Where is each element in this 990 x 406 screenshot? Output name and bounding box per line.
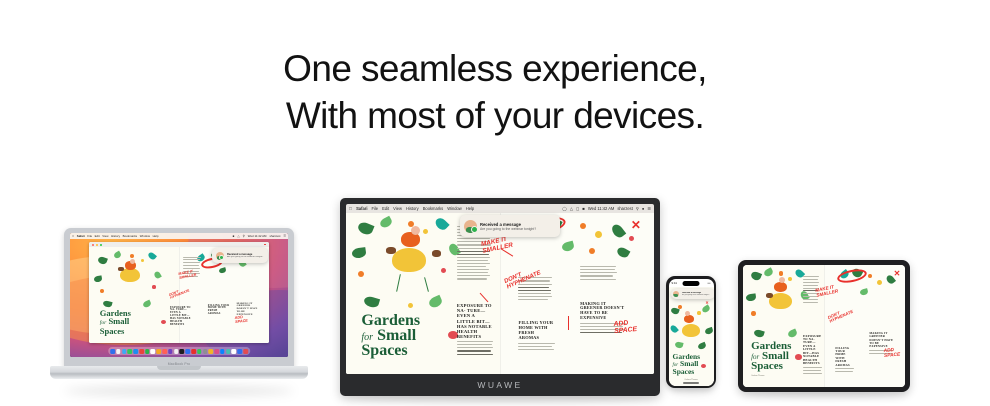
macos-dock[interactable]	[108, 347, 250, 355]
screen-mirror-icon[interactable]: ◯	[562, 206, 567, 211]
tablet-screen[interactable]: Gardens for Small Spaces Graham Thomas	[743, 265, 905, 387]
monitor-screen[interactable]:  Safari File Edit View History Bookmark…	[346, 204, 654, 374]
heading-aromas: FILLING YOUR HOME WITH FRESH AROMAS	[518, 321, 555, 341]
dock-icon-11[interactable]	[168, 349, 173, 354]
window-minimize-icon[interactable]	[96, 244, 98, 246]
illustration-figure-body	[392, 248, 426, 272]
menu-item-bookmarks[interactable]: Bookmarks	[123, 234, 137, 238]
laptop-lid:  Safari File Edit View History Bookmark…	[64, 228, 294, 368]
menu-item-edit[interactable]: Edit	[382, 206, 389, 211]
apple-menu-icon[interactable]: 	[72, 234, 74, 238]
record-icon	[264, 244, 266, 246]
dock-icon-10[interactable]	[162, 349, 167, 354]
headline-line-2: With most of your devices.	[0, 93, 990, 140]
siri-icon[interactable]: ●	[642, 206, 644, 211]
masthead-line3: Spaces	[751, 360, 783, 372]
menu-item-view[interactable]: View	[102, 234, 108, 238]
menu-item-file[interactable]: File	[371, 206, 378, 211]
laptop-menubar[interactable]:  Safari File Edit View History Bookmark…	[70, 233, 288, 239]
dock-icon-22[interactable]	[232, 349, 237, 354]
magazine-byline: Graham Thomas	[751, 375, 764, 377]
dock-icon-23[interactable]	[237, 349, 242, 354]
annotation-add-space: ADD SPACE	[234, 316, 248, 325]
dock-icon-1[interactable]	[110, 349, 115, 354]
annotation-close-x-icon: ✕	[631, 218, 641, 232]
flower-decoration	[795, 354, 802, 360]
wifi-icon[interactable]: △	[570, 206, 573, 211]
notification-body: Are you going to the webinar tonight?	[227, 256, 264, 258]
dock-icon-19[interactable]	[214, 349, 219, 354]
menu-item-safari[interactable]: Safari	[77, 234, 85, 238]
menu-item-edit[interactable]: Edit	[95, 234, 100, 238]
device-laptop[interactable]:  Safari File Edit View History Bookmark…	[50, 228, 308, 390]
menubar-clock[interactable]: Wed 11:42 AM	[248, 234, 267, 238]
dock-icon-3[interactable]	[122, 349, 127, 354]
menubar-user[interactable]: sharzest	[617, 206, 632, 211]
menu-item-help[interactable]: Help	[466, 206, 474, 211]
dock-icon-24[interactable]	[243, 349, 248, 354]
menu-item-view[interactable]: View	[393, 206, 402, 211]
tablet-body: Gardens for Small Spaces Graham Thomas	[738, 260, 910, 392]
magazine-spread-monitor: Gardens for Small Spaces	[346, 213, 654, 374]
heading-exposure: EXPOSURE TO NA- TURE—EVEN A LITTLE BIT—H…	[803, 335, 822, 366]
menubar-status-area[interactable]: ■ △ ⚲ Wed 11:42 AM sharzest ☰	[233, 234, 286, 238]
search-icon[interactable]: ⚲	[243, 234, 245, 238]
dock-icon-4[interactable]	[128, 349, 133, 354]
dock-icon-16[interactable]	[197, 349, 202, 354]
menu-item-window[interactable]: Window	[140, 234, 150, 238]
laptop-trackpad-notch	[157, 366, 201, 370]
home-indicator	[683, 382, 699, 383]
search-icon[interactable]: ⚲	[636, 206, 639, 211]
monitor-body:  Safari File Edit View History Bookmark…	[340, 198, 660, 396]
laptop-browser-window[interactable]: Gardens for Small Spaces	[89, 242, 269, 343]
control-center-icon[interactable]: ☰	[647, 206, 651, 211]
battery-icon[interactable]: ■	[582, 206, 584, 211]
annotation-close-x-icon: ✕	[894, 269, 901, 278]
dock-icon-17[interactable]	[203, 349, 208, 354]
dock-icon-5[interactable]	[133, 349, 138, 354]
monitor-chin: WUAWE	[340, 374, 660, 396]
laptop-base	[50, 366, 308, 379]
magazine-spread-tablet: Gardens for Small Spaces Graham Thomas	[743, 265, 905, 387]
dock-icon-12[interactable]	[174, 349, 179, 354]
laptop-screen[interactable]:  Safari File Edit View History Bookmark…	[70, 233, 288, 357]
menu-item-history[interactable]: History	[111, 234, 120, 238]
phone-status-icons: •••	[708, 281, 711, 285]
dock-icon-9[interactable]	[156, 349, 161, 354]
menu-item-bookmarks[interactable]: Bookmarks	[423, 206, 443, 211]
heading-greener: MAKING IT GREENER DOESN'T HAVE TO BE EXP…	[869, 332, 893, 348]
menubar-user[interactable]: sharzest	[269, 234, 280, 238]
page-stage: One seamless experience, With most of yo…	[0, 0, 990, 406]
phone-screen[interactable]: 9:41 ••• Received a message Are you goin…	[669, 279, 714, 386]
dock-icon-7[interactable]	[145, 349, 150, 354]
dock-icon-18[interactable]	[209, 349, 214, 354]
app-badge-icon	[471, 226, 478, 233]
flower-decoration	[701, 364, 706, 368]
dock-icon-13[interactable]	[180, 349, 185, 354]
menu-item-file[interactable]: File	[87, 234, 92, 238]
menu-item-help[interactable]: Help	[153, 234, 159, 238]
dock-icon-6[interactable]	[139, 349, 144, 354]
menu-item-safari[interactable]: Safari	[356, 206, 367, 211]
menu-item-history[interactable]: History	[406, 206, 419, 211]
window-zoom-icon[interactable]	[100, 244, 102, 246]
menu-item-window[interactable]: Window	[447, 206, 462, 211]
notification-toast-monitor[interactable]: Received a message Are you going to the …	[460, 215, 560, 237]
notification-body: Are you going to the webinar tonight?	[480, 227, 556, 231]
page-title: One seamless experience, With most of yo…	[0, 46, 990, 139]
dock-icon-15[interactable]	[191, 349, 196, 354]
menubar-clock[interactable]: Wed 11:42 AM	[588, 206, 614, 211]
display-icon[interactable]: ◻	[576, 206, 579, 211]
flower-decoration	[161, 320, 166, 324]
phone-body: 9:41 ••• Received a message Are you goin…	[666, 276, 716, 388]
dock-icon-21[interactable]	[226, 349, 231, 354]
device-monitor[interactable]:  Safari File Edit View History Bookmark…	[340, 198, 660, 396]
notification-toast-laptop[interactable]: Received a message Are you going to the …	[212, 248, 268, 263]
magazine-masthead: Gardens for Small Spaces	[751, 341, 791, 372]
heading-aromas: FILLING YOUR HOME WITH FRESH AROMAS	[208, 305, 230, 317]
magazine-masthead: Gardens for Small Spaces	[100, 309, 131, 334]
dynamic-island	[683, 281, 700, 286]
masthead-line3: Spaces	[673, 367, 695, 376]
heading-exposure: EXPOSURE TO NA- TURE—EVEN A LITTLE BIT—H…	[170, 307, 192, 327]
magazine-page-phone: Received a message Are you going to the …	[669, 287, 714, 386]
menubar-status-area[interactable]: ◯ △ ◻ ■ Wed 11:42 AM sharzest ⚲ ● ☰	[562, 206, 651, 211]
notification-toast-phone[interactable]: Received a message Are you going to the …	[671, 289, 714, 299]
headline-line-1: One seamless experience,	[0, 46, 990, 93]
dock-icon-2[interactable]	[116, 349, 121, 354]
notification-body: Are you going to the webinar tonight?	[682, 294, 713, 296]
annotation-add-space: ADD SPACE	[613, 320, 637, 336]
magazine-byline: Graham Thomas	[669, 379, 714, 381]
magazine-masthead: Gardens for Small Spaces	[673, 353, 701, 376]
app-badge-icon	[219, 255, 224, 260]
monitor-brand-label: WUAWE	[477, 380, 522, 390]
apple-menu-icon[interactable]: 	[349, 206, 352, 211]
device-tablet[interactable]: Gardens for Small Spaces Graham Thomas	[738, 260, 910, 392]
dock-icon-20[interactable]	[220, 349, 225, 354]
battery-icon[interactable]: ■	[233, 234, 235, 238]
masthead-line3: Spaces	[361, 342, 407, 359]
control-center-icon[interactable]: ☰	[283, 234, 286, 238]
device-phone[interactable]: 9:41 ••• Received a message Are you goin…	[666, 276, 716, 388]
dock-icon-14[interactable]	[185, 349, 190, 354]
wifi-icon[interactable]: △	[237, 234, 239, 238]
annotation-add-space: ADD SPACE	[884, 349, 901, 360]
window-close-icon[interactable]	[92, 244, 94, 246]
heading-greener: MAKING IT GREENER DOESN'T HAVE TO BE EXP…	[580, 302, 626, 321]
monitor-menubar[interactable]:  Safari File Edit View History Bookmark…	[346, 204, 654, 213]
magazine-masthead: Gardens for Small Spaces	[361, 313, 420, 358]
dock-icon-8[interactable]	[151, 349, 156, 354]
heading-aromas: FILLING YOUR HOME WITH FRESH AROMAS	[835, 347, 854, 367]
phone-clock: 9:41	[672, 281, 677, 285]
masthead-line3: Spaces	[100, 326, 125, 336]
heading-exposure: EXPOSURE TO NA- TURE—EVEN A LITTLE BIT—H…	[457, 303, 494, 339]
